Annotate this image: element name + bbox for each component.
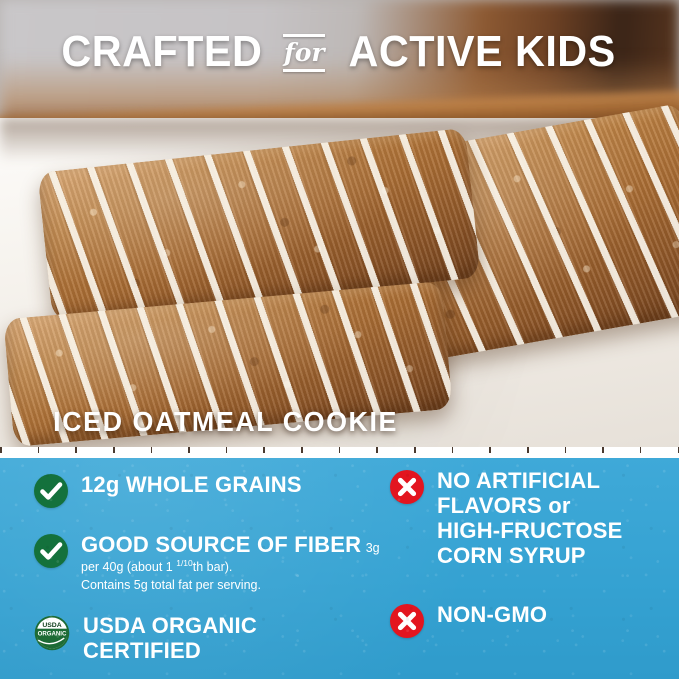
perforation-tick: [602, 447, 604, 453]
benefits-left-column: 12g WHOLE GRAINS GOOD SOURCE OF FIBER 3g…: [34, 472, 384, 664]
perforation-tick: [75, 447, 77, 453]
headline-connector-text: for: [284, 40, 325, 66]
perforation-strip: [0, 447, 679, 458]
perforation-tick: [113, 447, 115, 453]
perforation-tick: [489, 447, 491, 453]
benefit-whole-grains: 12g WHOLE GRAINS: [34, 472, 384, 508]
perforation-tick: [188, 447, 190, 453]
svg-text:ORGANIC: ORGANIC: [38, 630, 67, 637]
spacer: [390, 568, 670, 602]
headline-rule-bottom: [283, 69, 325, 72]
perforation-tick: [301, 447, 303, 453]
benefit-subtitle-part-b: th bar).: [193, 560, 233, 574]
x-circle-icon: [390, 470, 424, 504]
perforation-tick: [226, 447, 228, 453]
benefit-source-of-fiber: GOOD SOURCE OF FIBER 3g per 40g (about 1…: [34, 532, 384, 594]
check-circle-icon: [34, 474, 68, 508]
benefit-title: NO ARTIFICIAL FLAVORS or HIGH-FRUCTOSE C…: [437, 468, 623, 568]
spacer: [34, 508, 384, 532]
svg-text:USDA: USDA: [42, 622, 61, 629]
benefit-non-gmo: NON-GMO: [390, 602, 670, 638]
benefit-usda-organic: USDA ORGANIC USDA ORGANIC CERTIFIED: [34, 613, 384, 664]
perforation-tick: [38, 447, 40, 453]
headline-connector: for: [281, 34, 327, 72]
benefit-text-block: NO ARTIFICIAL FLAVORS or HIGH-FRUCTOSE C…: [437, 468, 623, 568]
benefit-subtitle-fraction: 1/10: [176, 558, 193, 568]
benefit-text-block: NON-GMO: [437, 602, 547, 628]
perforation-tick: [527, 447, 529, 453]
benefit-text-block: 12g WHOLE GRAINS: [81, 472, 302, 498]
benefit-subtitle-line2: Contains 5g total fat per serving.: [81, 578, 261, 592]
spacer: [34, 594, 384, 613]
perforation-tick: [452, 447, 454, 453]
x-circle-icon: [390, 604, 424, 638]
perforation-tick: [151, 447, 153, 453]
perforation-tick: [339, 447, 341, 453]
headline: CRAFTED for ACTIVE KIDS: [0, 27, 679, 77]
benefit-text-block: GOOD SOURCE OF FIBER 3g per 40g (about 1…: [81, 532, 384, 594]
benefit-no-artificial-flavors: NO ARTIFICIAL FLAVORS or HIGH-FRUCTOSE C…: [390, 468, 670, 568]
product-feature-poster: CRAFTED for ACTIVE KIDS ICED OATMEAL COO…: [0, 0, 679, 679]
product-name: ICED OATMEAL COOKIE: [53, 406, 398, 438]
perforation-tick: [376, 447, 378, 453]
benefit-title: USDA ORGANIC CERTIFIED: [83, 613, 257, 663]
benefit-text-block: USDA ORGANIC CERTIFIED: [83, 613, 257, 664]
perforation-tick: [565, 447, 567, 453]
perforation-tick: [414, 447, 416, 453]
benefit-title: GOOD SOURCE OF FIBER: [81, 532, 361, 557]
benefits-right-column: NO ARTIFICIAL FLAVORS or HIGH-FRUCTOSE C…: [390, 468, 670, 638]
usda-organic-seal-icon: USDA ORGANIC: [34, 615, 70, 651]
benefits-panel: 12g WHOLE GRAINS GOOD SOURCE OF FIBER 3g…: [0, 458, 679, 679]
headline-rule-top: [283, 34, 325, 37]
benefit-title: 12g WHOLE GRAINS: [81, 472, 302, 497]
benefit-title: NON-GMO: [437, 602, 547, 627]
headline-word-active-kids: ACTIVE KIDS: [349, 27, 616, 77]
headline-word-crafted: CRAFTED: [61, 27, 262, 77]
perforation-tick: [0, 447, 2, 453]
perforation-tick: [640, 447, 642, 453]
perforation-tick: [263, 447, 265, 453]
check-circle-icon: [34, 534, 68, 568]
